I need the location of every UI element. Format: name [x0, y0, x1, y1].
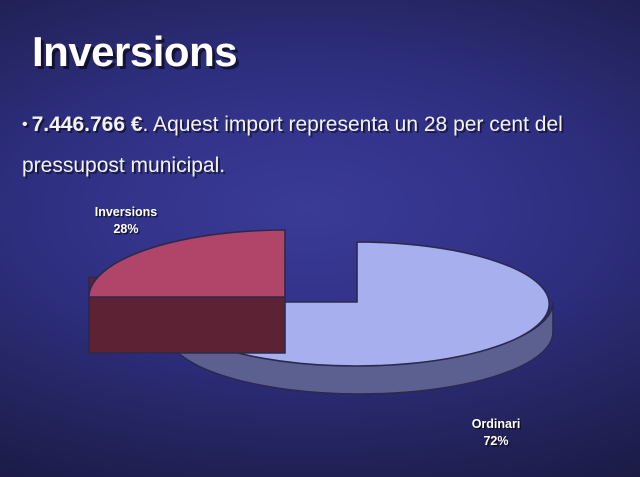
pie-slice-inversions[interactable] [89, 230, 285, 353]
investment-amount: 7.446.766 € [32, 113, 143, 136]
slide: Inversions •7.446.766 €. Aquest import r… [0, 0, 640, 477]
pie-label-ordinari-name: Ordinari [408, 416, 584, 433]
pie-label-inversions-percent: 28% [60, 221, 192, 238]
pie-label-inversions-name: Inversions [60, 204, 192, 221]
pie-label-inversions: Inversions 28% [60, 204, 192, 238]
bullet-glyph: • [22, 116, 28, 133]
body-text: •7.446.766 €. Aquest import representa u… [22, 104, 614, 186]
pie-slice-inversions-top [89, 230, 285, 297]
page-title: Inversions [32, 28, 237, 76]
pie-label-ordinari-percent: 72% [408, 433, 584, 450]
pie-label-ordinari: Ordinari 72% [408, 416, 584, 450]
